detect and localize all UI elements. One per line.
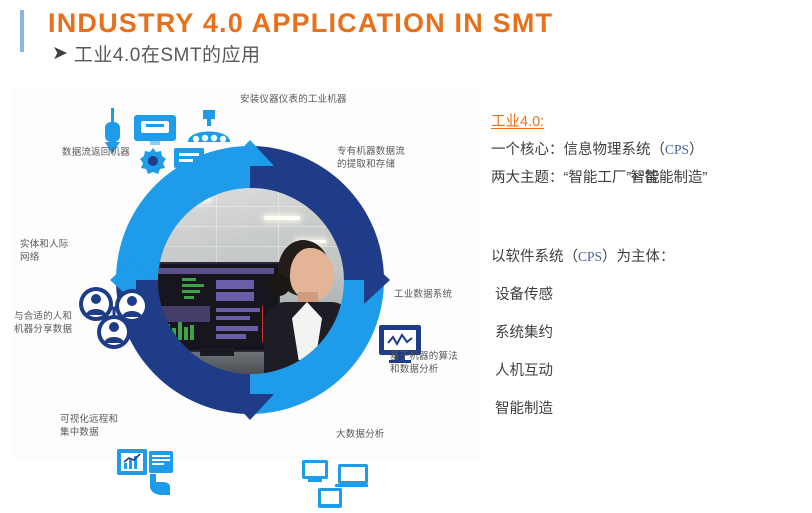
panel-line-core-suffix: ）	[689, 142, 704, 158]
diagram-label-data-flow-back: 数据流返回机器	[62, 146, 130, 159]
diagram-label-instrumented-machines: 安装仪器仪表的工业机器	[240, 93, 347, 106]
list-item: 智能制造	[495, 397, 553, 418]
cps-token-2: CPS	[578, 249, 602, 264]
diagram-label-machine-data-extract: 专有机器数据流 的提取和存储	[337, 145, 405, 171]
devices-icon	[302, 458, 368, 513]
cps-token-1: CPS	[665, 142, 689, 157]
panel-line-software: 以软件系统（CPS）为主体：	[491, 245, 675, 266]
panel-heading: 工业4.0:	[491, 110, 544, 131]
list-item: 人机互动	[495, 359, 553, 380]
list-item: 系统集约	[495, 321, 553, 342]
title-accent-bar	[20, 10, 24, 52]
chevron-right-icon: ➤	[52, 44, 68, 63]
diagram-label-physical-human-network: 实体和人际 网络	[20, 238, 69, 264]
diagram-label-big-data-analysis: 大数据分析	[336, 428, 385, 441]
person-photo-figure	[262, 234, 344, 374]
diagram-label-share-data: 与合适的人和 机器分享数据	[14, 310, 72, 336]
list-item: 设备传感	[495, 283, 553, 304]
instrument-panel-icon	[134, 115, 176, 150]
center-photo	[158, 188, 344, 374]
page-subtitle: 工业4.0在SMT的应用	[74, 40, 261, 67]
diagram-label-machine-algorithms: 基于机器的算法 和数据分析	[390, 350, 458, 376]
dashboard-touch-icon	[116, 448, 176, 501]
panel-line-themes-overlap: “智能智能	[640, 166, 674, 187]
people-network-icon	[72, 284, 158, 355]
subtitle-row: ➤ 工业4.0在SMT的应用	[52, 40, 260, 67]
industry40-cycle-diagram: 安装仪器仪表的工业机器 数据流返回机器 专有机器数据流 的提取和存储 实体和人际…	[12, 88, 482, 460]
panel-line-themes: 两大主题：“智能工厂”+“智能智能制造”	[491, 166, 707, 187]
panel-line-software-prefix: 以软件系统（	[491, 249, 578, 265]
panel-line-core-prefix: 一个核心：信息物理系统（	[491, 142, 665, 158]
data-chip-icon	[172, 146, 206, 177]
panel-line-software-suffix: ）为主体：	[602, 249, 675, 265]
panel-bullet-list: 设备传感 系统集约 人机互动 智能制造	[495, 283, 553, 435]
gear-icon	[138, 146, 168, 181]
panel-line-themes-suffix: 制造”	[673, 170, 707, 186]
robot-arm-icon	[184, 110, 234, 151]
diagram-label-visualize-remote: 可视化远程和 集中数据	[60, 413, 118, 439]
panel-line-themes-prefix: 两大主题：“智能工厂”+	[491, 170, 640, 186]
page-title: INDUSTRY 4.0 APPLICATION IN SMT	[48, 8, 553, 39]
panel-line-core: 一个核心：信息物理系统（CPS）	[491, 138, 704, 159]
overlap-text-b: 智能	[631, 166, 660, 187]
slide-root: INDUSTRY 4.0 APPLICATION IN SMT ➤ 工业4.0在…	[0, 0, 812, 471]
diagram-label-industrial-data-system: 工业数据系统	[394, 288, 452, 301]
